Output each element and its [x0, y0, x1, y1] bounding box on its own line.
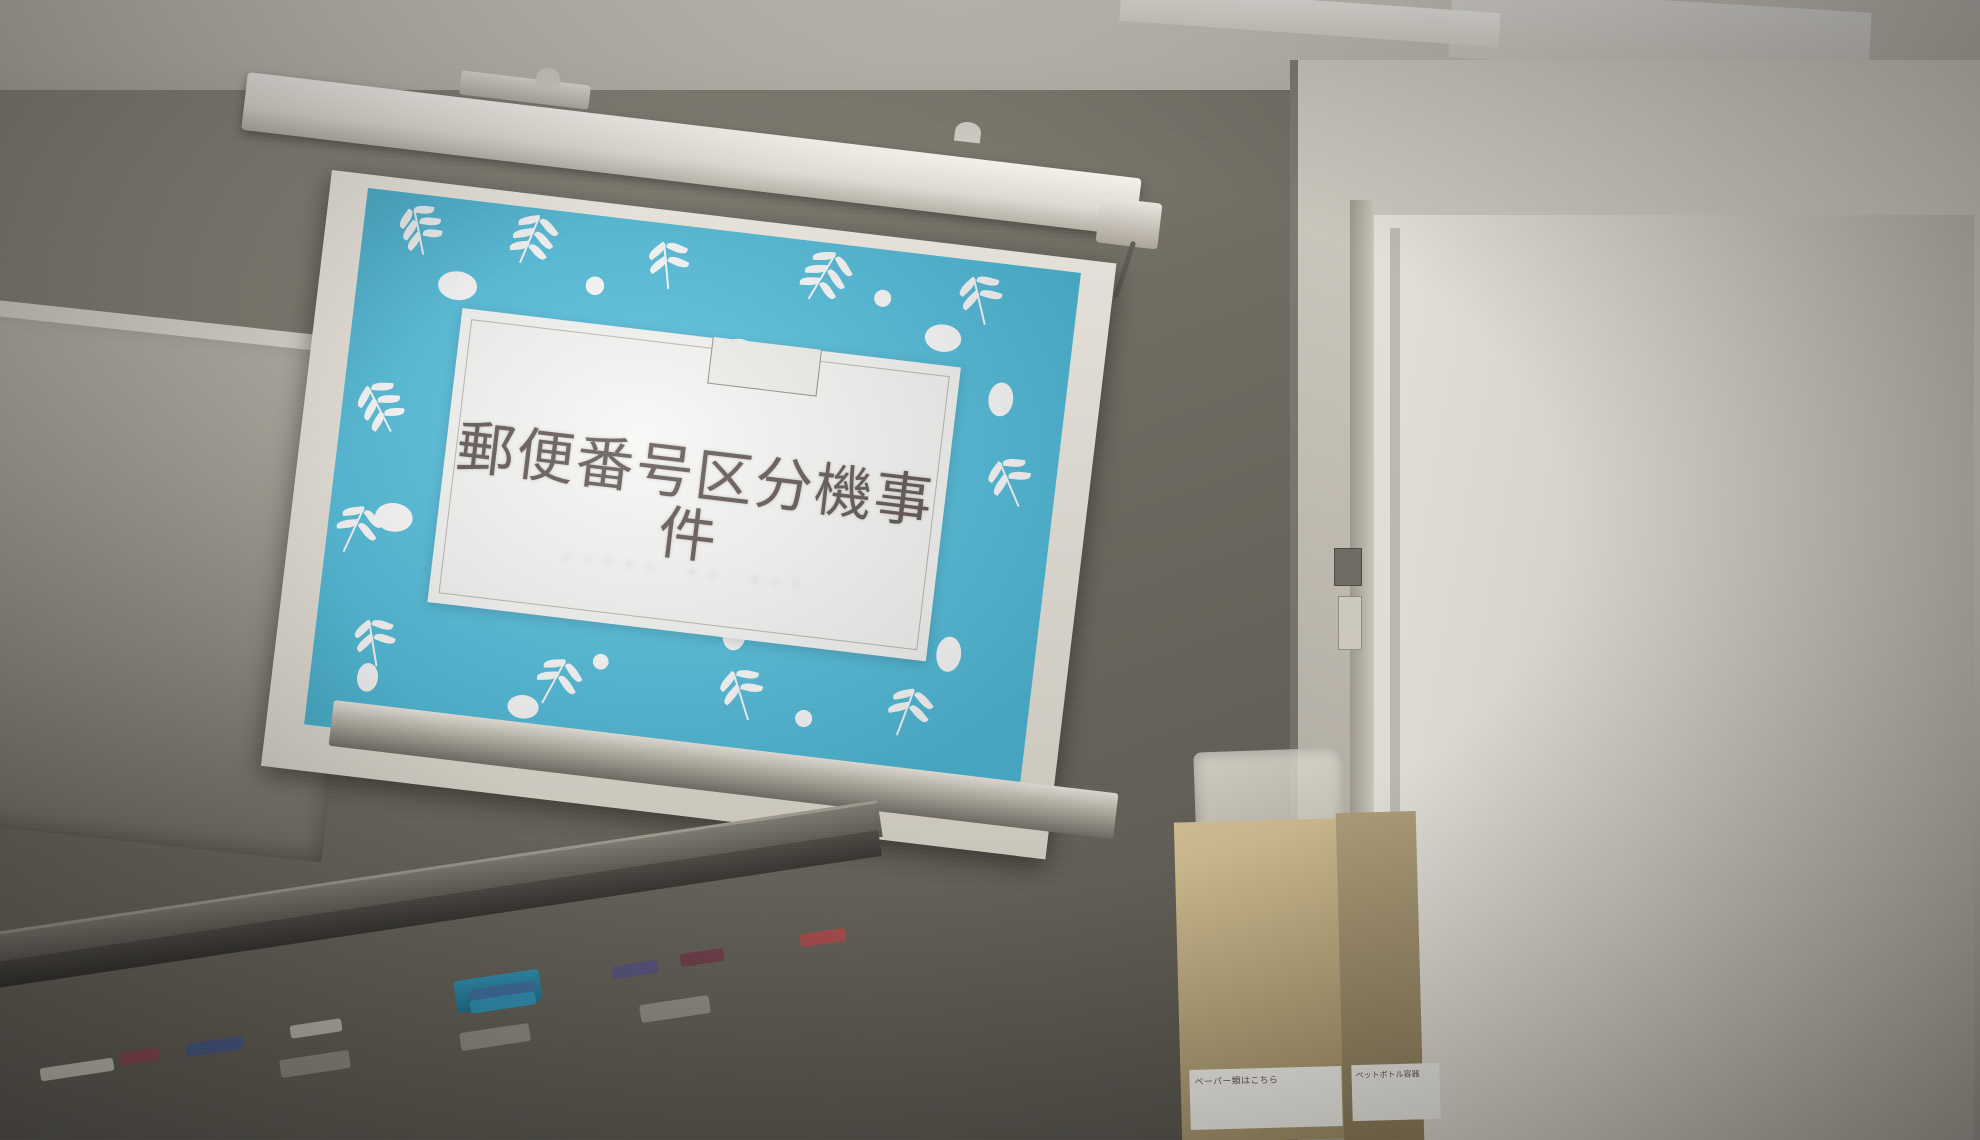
slide-content-card: 郵便番号区分機事件 ・・・・・ ・・ ・・・ — [427, 308, 961, 661]
screen-housing-endcap — [1095, 196, 1162, 249]
door-plate — [1334, 548, 1362, 586]
box-label-secondary: ペットボトル容器 — [1351, 1063, 1440, 1121]
door[interactable] — [1374, 215, 1974, 1140]
photo-scene: 郵便番号区分機事件 ・・・・・ ・・ ・・・ ペーパー類はこちら ペットボトル容… — [0, 0, 1980, 1140]
box-label: ペーパー類はこちら — [1189, 1066, 1343, 1130]
light-switch[interactable] — [1338, 596, 1362, 650]
